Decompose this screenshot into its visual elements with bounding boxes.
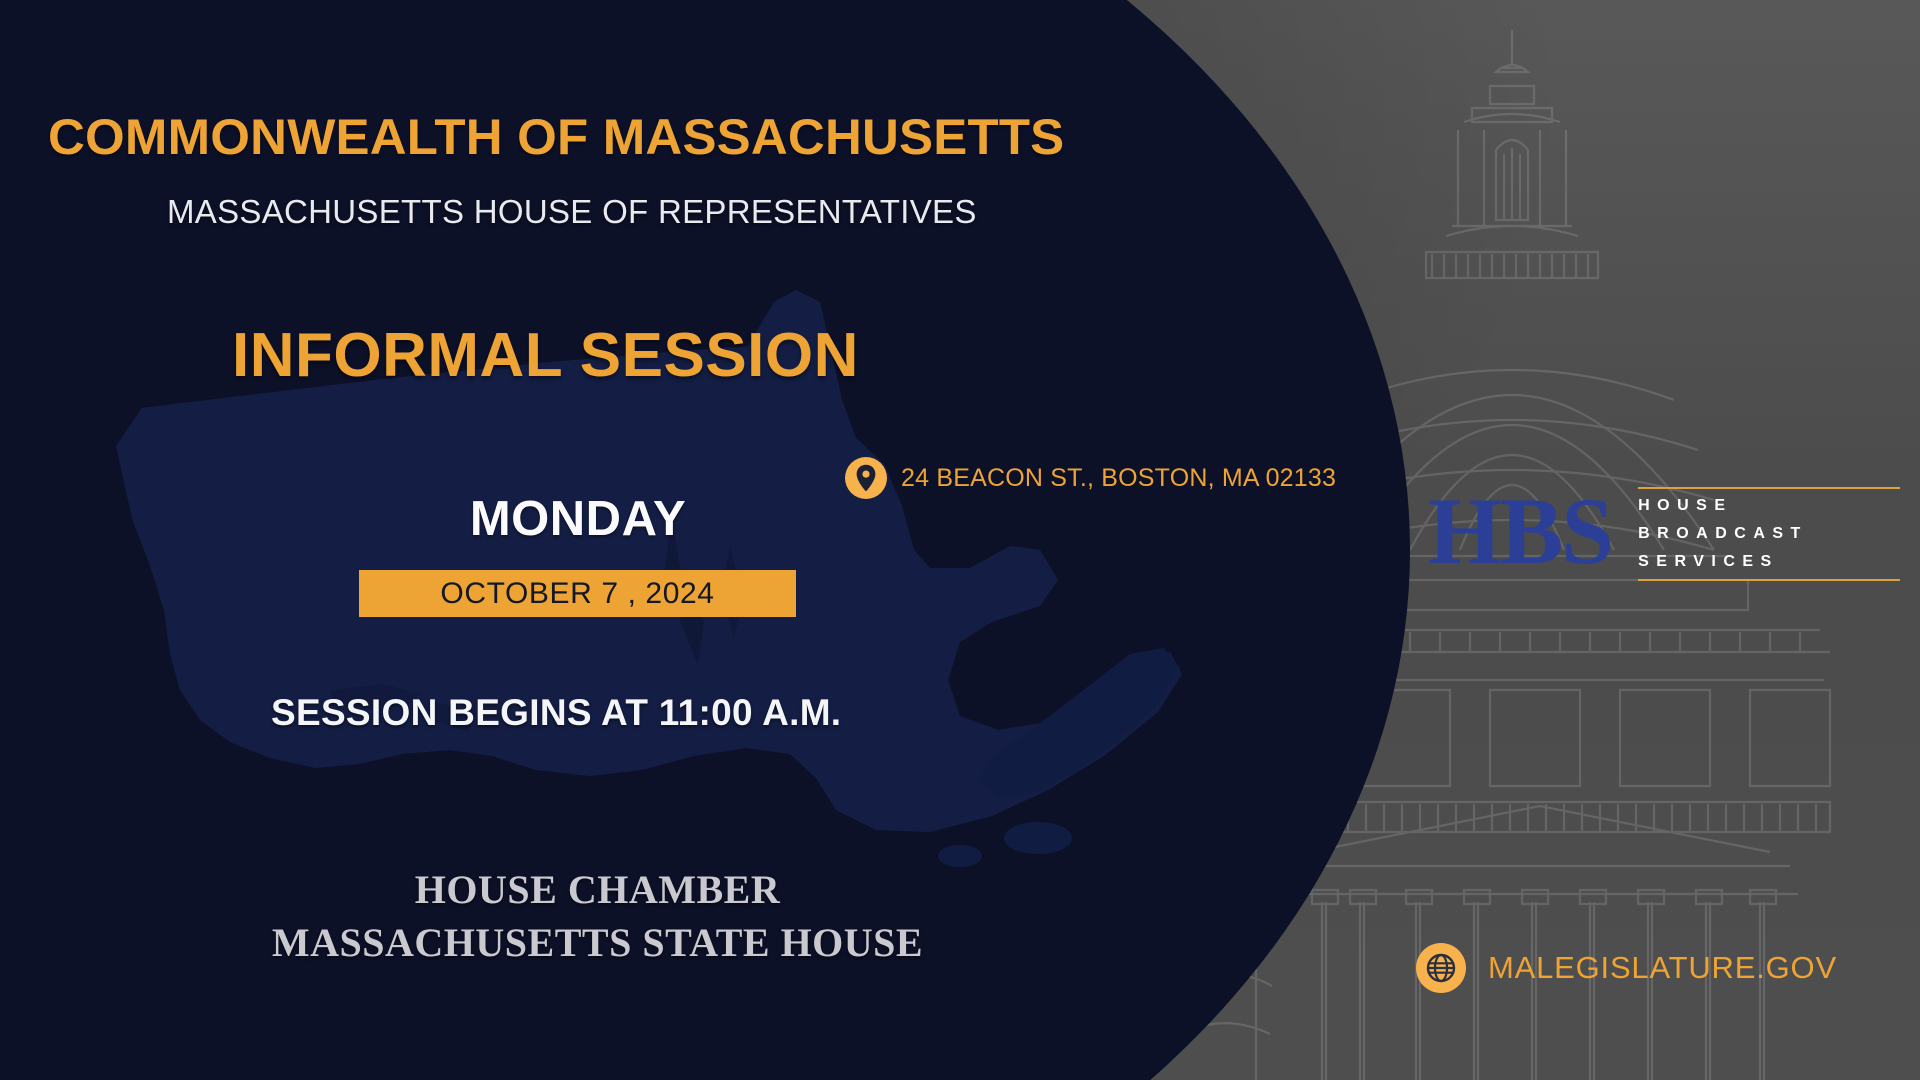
page-title: COMMONWEALTH OF MASSACHUSETTS — [48, 108, 1064, 166]
hbs-logo: HBS HOUSE BROADCAST SERVICES — [1428, 483, 1900, 581]
website-row[interactable]: MALEGISLATURE.GOV — [1416, 943, 1837, 993]
venue-line-1: HOUSE CHAMBER — [0, 866, 1195, 913]
hbs-monogram: HBS — [1428, 484, 1612, 579]
hbs-word-broadcast: BROADCAST — [1638, 522, 1900, 545]
session-announcement-slide: COMMONWEALTH OF MASSACHUSETTS MASSACHUSE… — [0, 0, 1920, 1080]
address-text: 24 BEACON ST., BOSTON, MA 02133 — [901, 464, 1336, 493]
session-day: MONDAY — [443, 491, 713, 547]
website-url[interactable]: MALEGISLATURE.GOV — [1488, 950, 1837, 986]
globe-icon — [1416, 943, 1466, 993]
map-pin-icon — [845, 457, 887, 499]
hbs-word-house: HOUSE — [1638, 494, 1900, 517]
page-subtitle: MASSACHUSETTS HOUSE OF REPRESENTATIVES — [167, 193, 977, 231]
session-start-time: SESSION BEGINS AT 11:00 A.M. — [271, 692, 841, 734]
venue-line-2: MASSACHUSETTS STATE HOUSE — [0, 919, 1195, 966]
session-date-badge: OCTOBER 7 , 2024 — [359, 570, 796, 617]
session-date-text: OCTOBER 7 , 2024 — [440, 577, 714, 611]
slide-content: COMMONWEALTH OF MASSACHUSETTS MASSACHUSE… — [0, 0, 1920, 1080]
venue-block: HOUSE CHAMBER MASSACHUSETTS STATE HOUSE — [0, 866, 1195, 966]
hbs-rule-top — [1638, 487, 1900, 489]
hbs-rule-bottom — [1638, 579, 1900, 581]
hbs-word-services: SERVICES — [1638, 550, 1900, 573]
hbs-wordmark: HOUSE BROADCAST SERVICES — [1638, 483, 1900, 581]
session-type-heading: INFORMAL SESSION — [232, 320, 859, 391]
address-row: 24 BEACON ST., BOSTON, MA 02133 — [845, 457, 1336, 499]
